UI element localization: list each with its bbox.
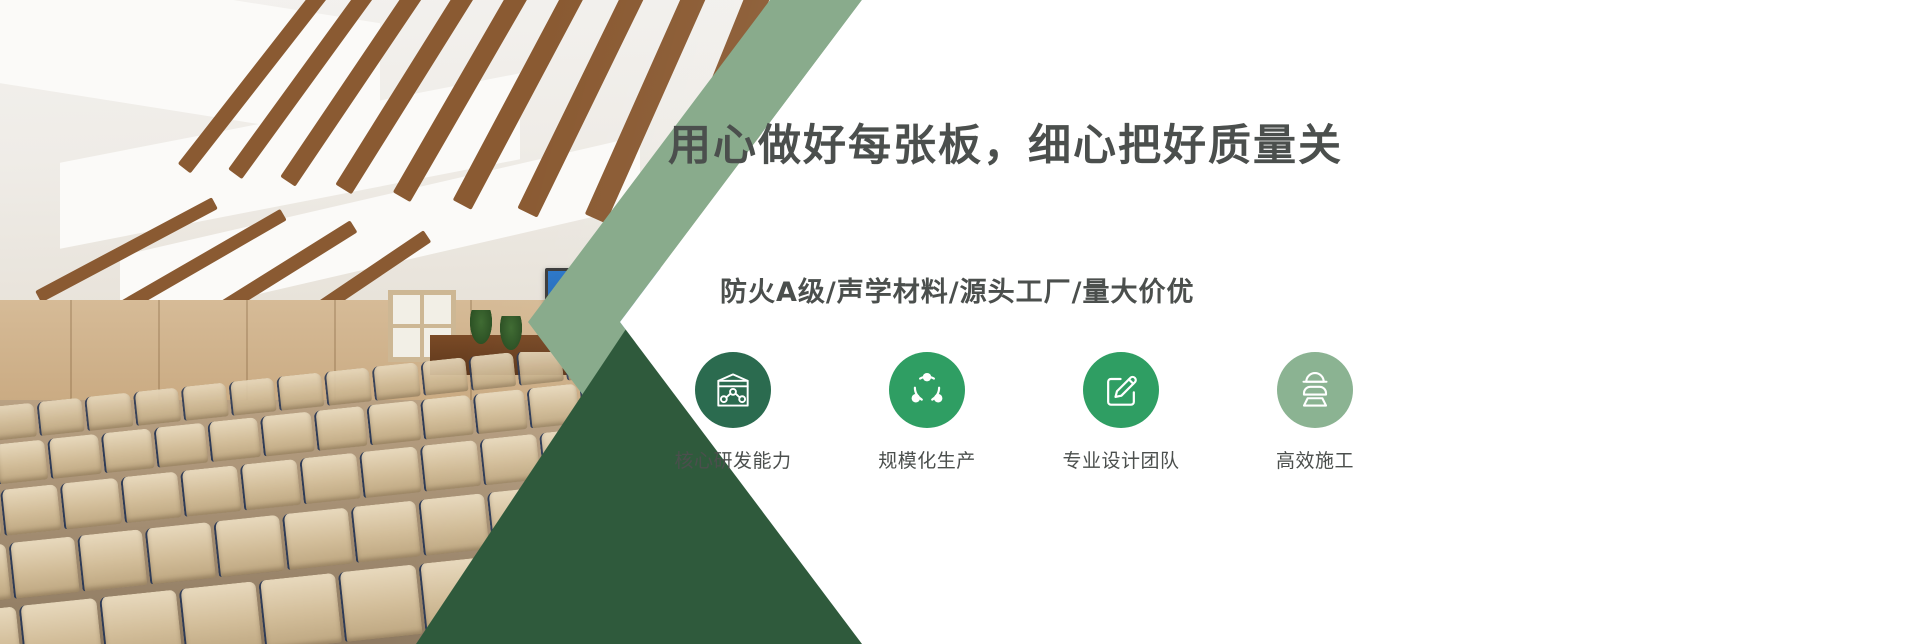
product-box-chart-icon	[711, 368, 755, 412]
banner-headline: 用心做好每张板，细心把好质量关	[668, 125, 1343, 168]
feature-icon-circle	[889, 352, 965, 428]
feature-item-design-team[interactable]: 专业设计团队	[1056, 352, 1186, 471]
banner-content: 用心做好每张板，细心把好质量关 防火A级/声学材料/源头工厂/量大价优	[668, 0, 1768, 644]
feature-icon-circle	[1083, 352, 1159, 428]
feature-item-core-rd[interactable]: 核心研发能力	[668, 352, 798, 471]
feature-label: 高效施工	[1276, 452, 1354, 471]
worker-person-icon	[1293, 368, 1337, 412]
feature-item-efficient-construction[interactable]: 高效施工	[1250, 352, 1380, 471]
feature-label: 核心研发能力	[674, 452, 791, 471]
banner-subheadline: 防火A级/声学材料/源头工厂/量大价优	[720, 279, 1194, 306]
feature-icon-circle	[695, 352, 771, 428]
hero-banner: 用心做好每张板，细心把好质量关 防火A级/声学材料/源头工厂/量大价优	[0, 0, 1920, 644]
feature-list: 核心研发能力 规模化生产	[668, 352, 1380, 471]
edit-pencil-square-icon	[1099, 368, 1143, 412]
feature-label: 专业设计团队	[1062, 452, 1179, 471]
feature-icon-circle	[1277, 352, 1353, 428]
feature-label: 规模化生产	[878, 452, 976, 471]
feature-item-scaled-production[interactable]: 规模化生产	[862, 352, 992, 471]
share-nodes-icon	[905, 368, 949, 412]
